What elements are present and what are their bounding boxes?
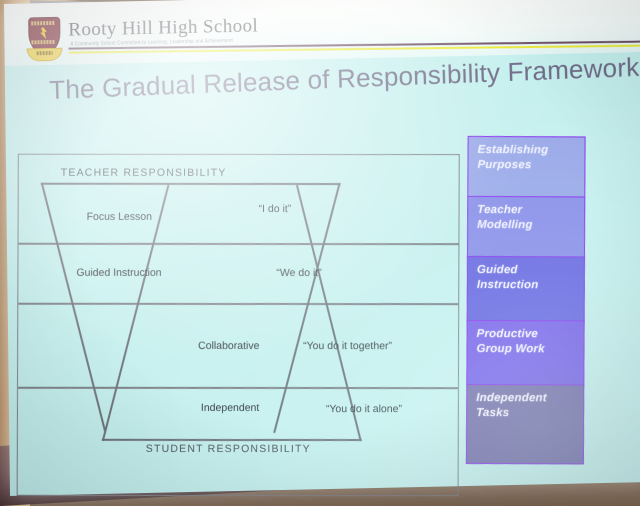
practice-block-line1: Teacher: [477, 203, 576, 218]
practice-block-line2: Purposes: [477, 158, 576, 173]
practice-block-independent-tasks: Independent Tasks: [466, 384, 584, 465]
practice-block-line1: Productive: [477, 327, 576, 342]
practice-block-line2: Group Work: [476, 342, 575, 357]
practice-block-establishing-purposes: Establishing Purposes: [467, 136, 585, 199]
student-responsibility-label: STUDENT RESPONSIBILITY: [146, 443, 311, 455]
practice-block-line2: Modelling: [477, 218, 576, 233]
teacher-responsibility-label: TEACHER RESPONSIBILITY: [61, 167, 227, 179]
practice-blocks-column: Establishing Purposes Teacher Modelling …: [466, 136, 586, 467]
school-crest-shield-icon: [26, 17, 61, 62]
practice-block-guided-instruction: Guided Instruction: [467, 256, 585, 323]
practice-block-productive-group-work: Productive Group Work: [466, 320, 584, 387]
practice-block-line2: Tasks: [476, 406, 575, 421]
practice-block-teacher-modelling: Teacher Modelling: [467, 196, 585, 259]
stage-label-guided-instruction: Guided Instruction: [76, 267, 161, 279]
stage-quote-you-do-it-together: “You do it together”: [303, 340, 392, 352]
stage-label-collaborative: Collaborative: [198, 340, 259, 352]
stage-quote-we-do-it: “We do it”: [276, 267, 321, 279]
stage-label-independent: Independent: [201, 402, 259, 414]
practice-block-line1: Establishing: [478, 143, 577, 158]
stage-quote-i-do-it: “I do it”: [259, 203, 292, 215]
projection-screen: Rooty Hill High School A Community Schoo…: [4, 0, 640, 496]
practice-block-line1: Guided: [477, 263, 576, 278]
gradual-release-diagram: TEACHER RESPONSIBILITY STUDENT RESPONSIB…: [17, 154, 460, 496]
practice-block-line2: Instruction: [477, 278, 576, 293]
stage-label-focus-lesson: Focus Lesson: [87, 211, 152, 223]
practice-block-line1: Independent: [476, 391, 575, 406]
stage-quote-you-do-it-alone: “You do it alone”: [326, 403, 402, 415]
